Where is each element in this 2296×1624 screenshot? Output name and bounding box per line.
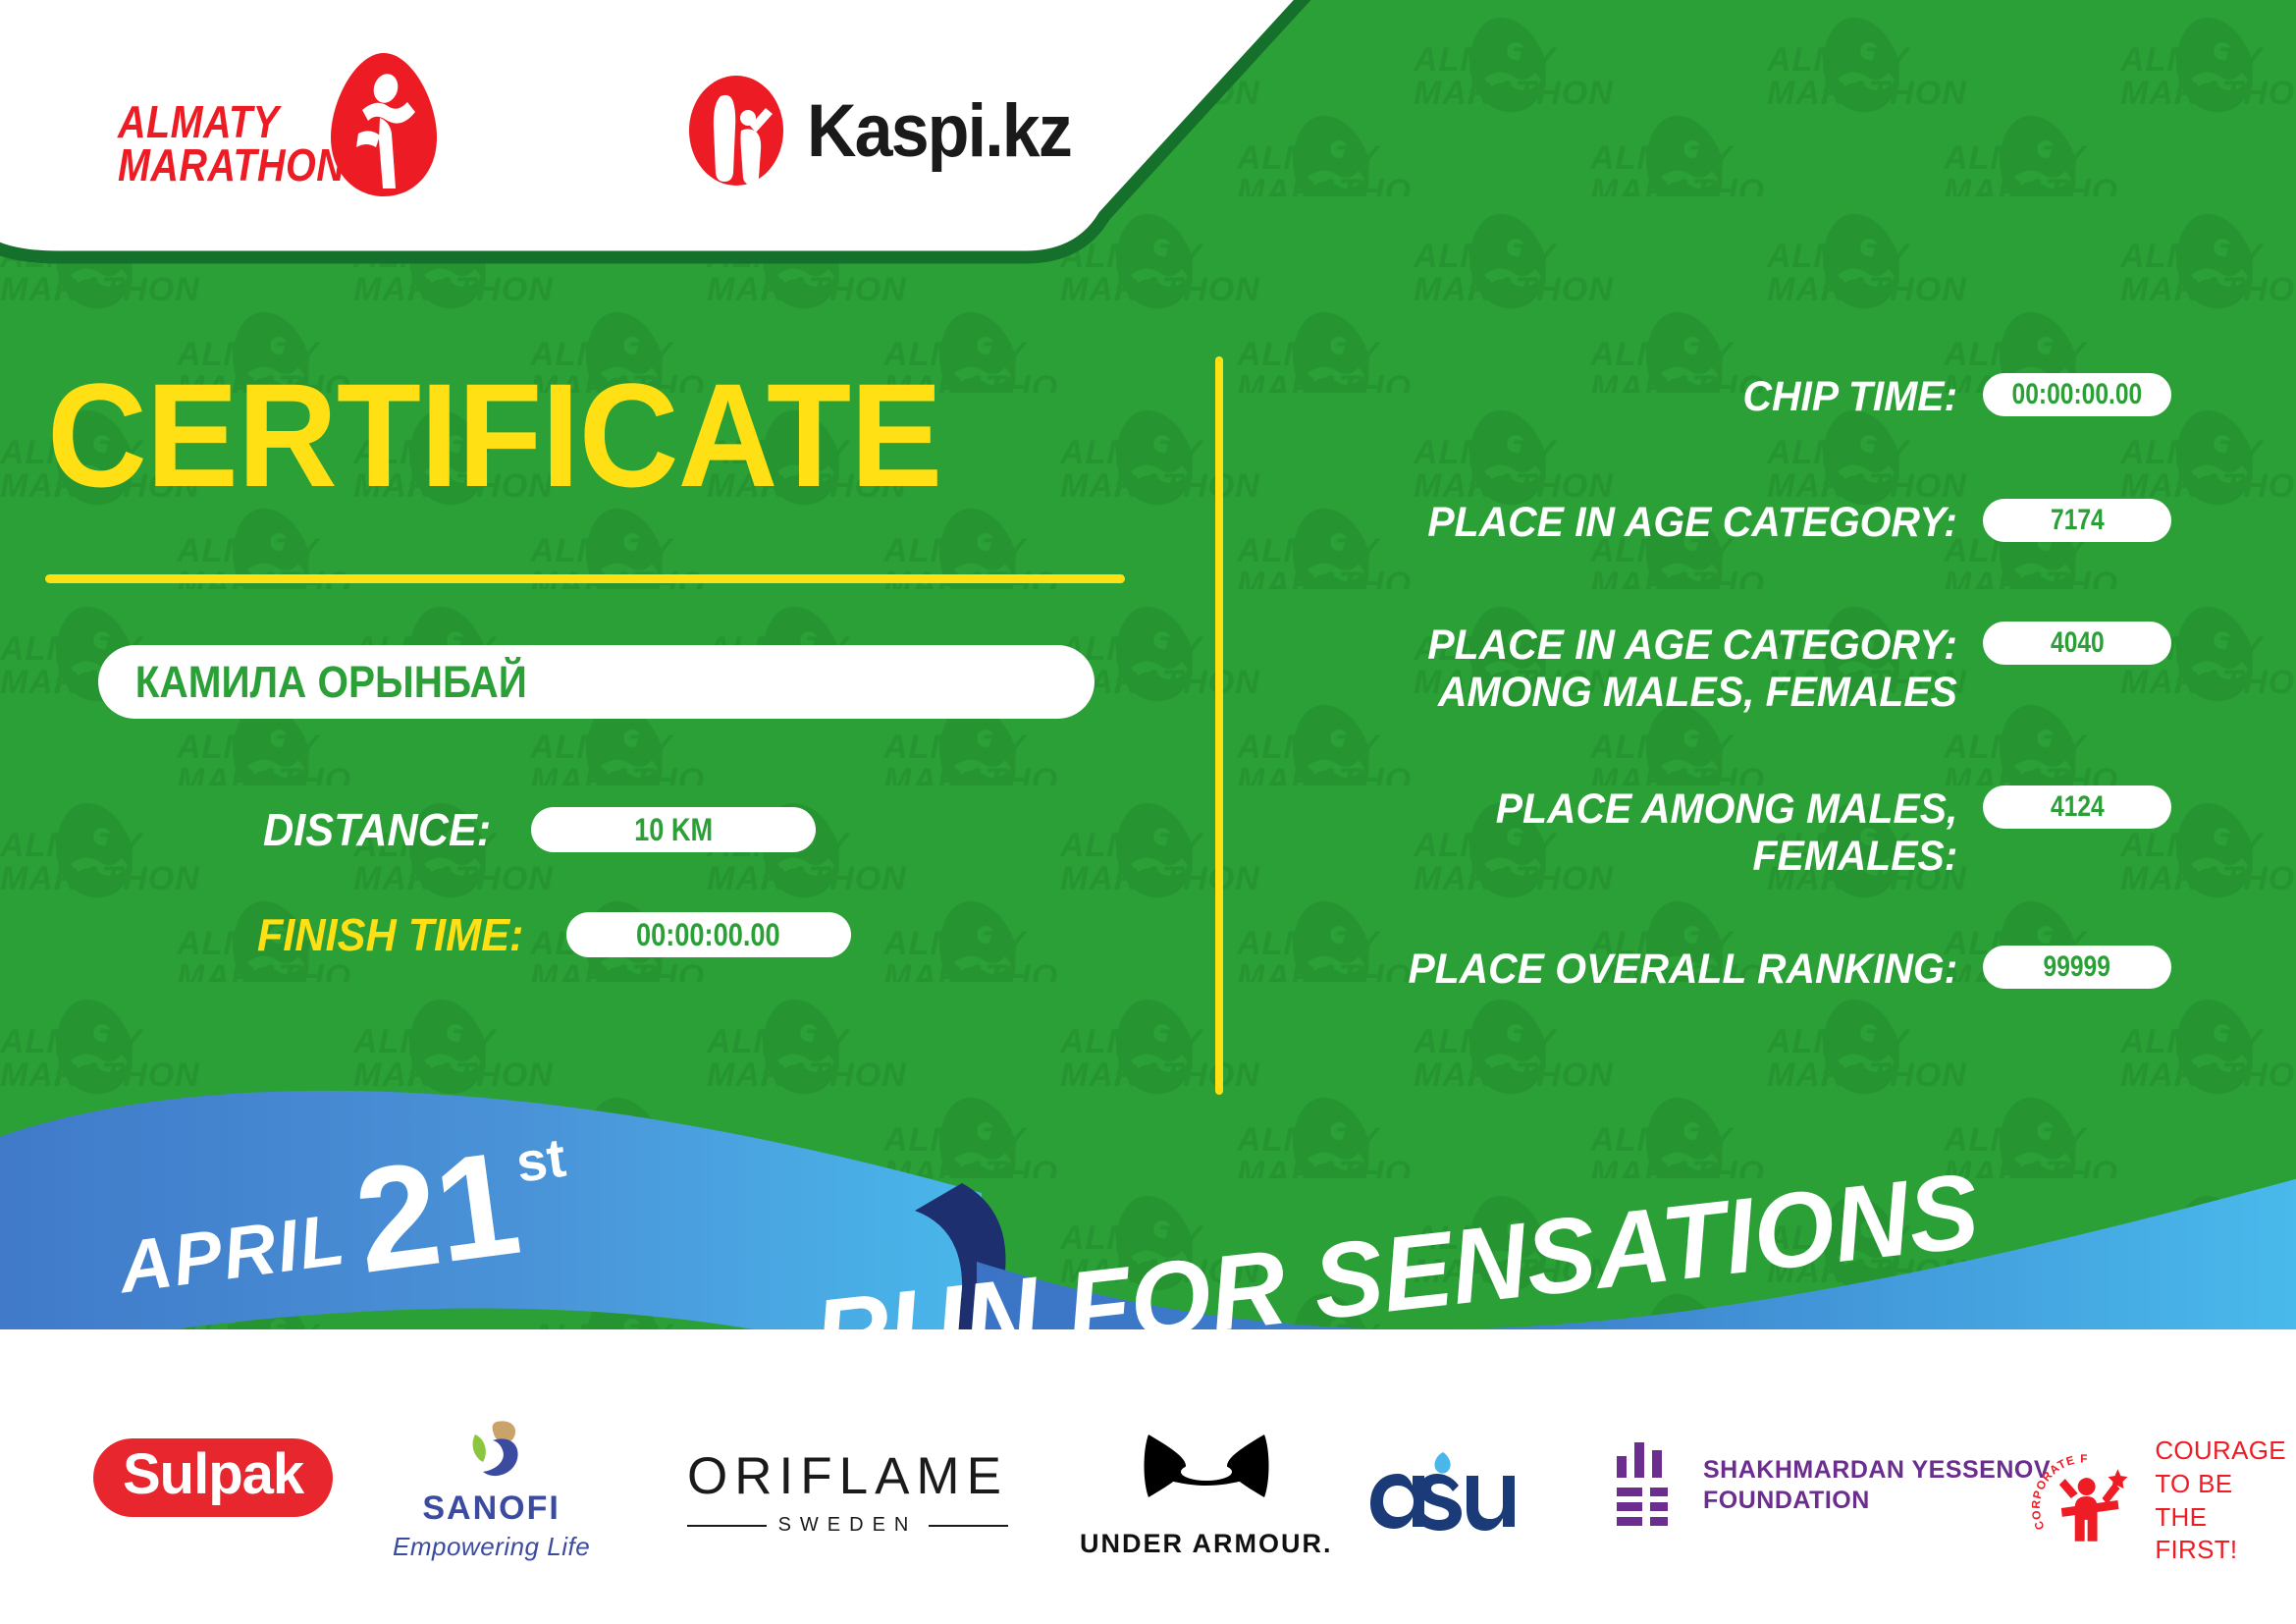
stat-value: 00:00:00.00 <box>2012 378 2143 411</box>
kaspi-wordmark: Kaspi.kz <box>807 88 1071 174</box>
finish-time-label: FINISH TIME: <box>257 908 523 961</box>
stat-label: PLACE AMONG MALES, FEMALES: <box>1495 785 1957 880</box>
distance-row: DISTANCE: 10 KM <box>263 803 816 856</box>
sanofi-tagline: Empowering Life <box>393 1532 590 1562</box>
certificate-canvas: ALMATY MARATHON ALMATY MARATHON <box>0 0 2296 1624</box>
stat-value-pill: 7174 <box>1983 499 2171 542</box>
event-day: 21 <box>349 1142 524 1282</box>
sponsor-oriflame: ORIFLAME SWEDEN <box>687 1446 1008 1537</box>
event-day-suffix: st <box>513 1130 569 1191</box>
kaspi-logo: Kaspi.kz <box>687 67 1094 194</box>
finish-time-row: FINISH TIME: 00:00:00.00 <box>257 908 851 961</box>
oriflame-rule-left <box>687 1525 767 1527</box>
header-logos: ALMATY MARATHON Kaspi.kz <box>0 0 1178 275</box>
stat-value-pill: 4040 <box>1983 622 2171 665</box>
under-armour-logo <box>1143 1433 1270 1523</box>
oriflame-sub-row: SWEDEN <box>687 1514 1008 1537</box>
finish-time-value-pill: 00:00:00.00 <box>566 912 851 957</box>
stat-label: PLACE OVERALL RANKING: <box>1408 946 1957 993</box>
sponsor-sanofi: SANOFI Empowering Life <box>393 1419 590 1562</box>
stat-label: PLACE IN AGE CATEGORY: <box>1428 499 1957 546</box>
kaspi-family-icon <box>687 75 785 188</box>
stat-value: 4040 <box>2051 626 2105 660</box>
stat-value-pill: 99999 <box>1983 946 2171 989</box>
page-title: CERTIFICATE <box>47 361 941 509</box>
stat-row: PLACE IN AGE CATEGORY: AMONG MALES, FEMA… <box>1276 622 2171 716</box>
yessenov-wordmark: SHAKHMARDAN YESSENOV FOUNDATION <box>1703 1455 2051 1517</box>
stat-value: 4124 <box>2051 790 2105 824</box>
participant-name-field: КАМИЛА ОРЫНБАЙ <box>98 645 1095 719</box>
column-divider <box>1215 356 1223 1095</box>
sponsor-strip: Sulpak SANOFI Empowering Life ORIFLAME S… <box>0 1411 2296 1593</box>
stat-label: PLACE IN AGE CATEGORY: AMONG MALES, FEMA… <box>1428 622 1957 716</box>
stat-value: 7174 <box>2051 504 2105 537</box>
sponsor-sulpak: Sulpak <box>93 1438 333 1517</box>
sanofi-wordmark: SANOFI <box>422 1489 560 1528</box>
stat-value-pill: 4124 <box>1983 785 2171 829</box>
courage-tagline: COURAGE TO BE THE FIRST! <box>2155 1435 2296 1567</box>
oriflame-rule-right <box>929 1525 1008 1527</box>
sulpak-logo: Sulpak <box>93 1438 333 1517</box>
distance-value-pill: 10 KM <box>531 807 816 852</box>
stat-row: PLACE IN AGE CATEGORY: 7174 <box>1276 499 2171 546</box>
distance-value: 10 KM <box>634 812 713 848</box>
finish-time-value: 00:00:00.00 <box>636 917 780 953</box>
sanofi-logo <box>454 1419 530 1484</box>
sponsor-asu <box>1364 1446 1522 1535</box>
title-underline <box>45 574 1125 583</box>
stat-row: CHIP TIME: 00:00:00.00 <box>1276 373 2171 420</box>
stat-label: CHIP TIME: <box>1742 373 1957 420</box>
courage-to-be-first-logo: CORPORATE FUND <box>2032 1447 2139 1555</box>
almaty-marathon-logo: ALMATY MARATHON <box>118 51 432 208</box>
oriflame-wordmark: ORIFLAME <box>687 1446 1008 1506</box>
asu-logo <box>1364 1446 1522 1535</box>
distance-label: DISTANCE: <box>263 803 491 856</box>
yessenov-foundation-logo <box>1615 1440 1680 1531</box>
sponsor-yessenov-foundation: SHAKHMARDAN YESSENOV FOUNDATION <box>1615 1440 2051 1531</box>
almaty-line-1: ALMATY <box>118 100 345 143</box>
almaty-line-2: MARATHON <box>118 143 345 187</box>
sponsor-courage-to-be-first: CORPORATE FUND COURAGE TO BE THE FIRST! <box>2032 1435 2296 1567</box>
stat-value: 99999 <box>2044 950 2110 984</box>
oriflame-subtitle: SWEDEN <box>778 1514 918 1537</box>
almaty-marathon-wordmark: ALMATY MARATHON <box>118 100 345 187</box>
stat-row: PLACE OVERALL RANKING: 99999 <box>1276 946 2171 993</box>
stat-row: PLACE AMONG MALES, FEMALES: 4124 <box>1276 785 2171 880</box>
sponsor-under-armour: UNDER ARMOUR. <box>1080 1433 1333 1559</box>
stat-value-pill: 00:00:00.00 <box>1983 373 2171 416</box>
runner-drop-icon <box>329 51 439 198</box>
participant-name: КАМИЛА ОРЫНБАЙ <box>98 657 527 708</box>
under-armour-wordmark: UNDER ARMOUR. <box>1080 1529 1333 1559</box>
